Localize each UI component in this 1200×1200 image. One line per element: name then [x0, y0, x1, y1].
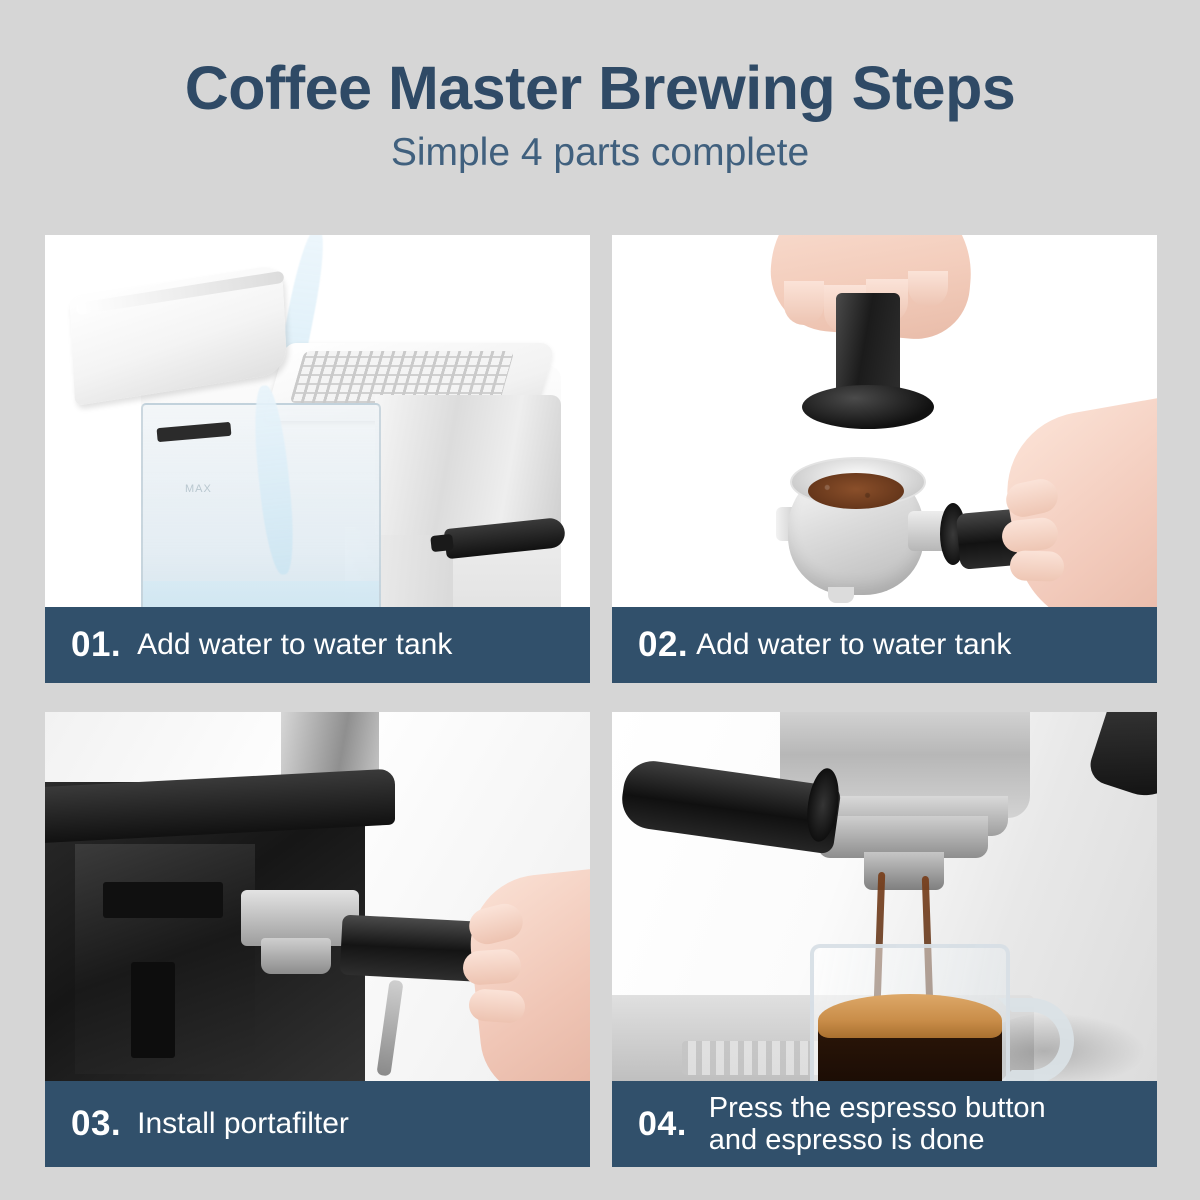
- step-card-02[interactable]: 02. Add water to water tank: [612, 235, 1157, 683]
- page-subtitle: Simple 4 parts complete: [0, 121, 1200, 175]
- step-card-04[interactable]: 04. Press the espresso button and espres…: [612, 712, 1157, 1167]
- espresso-crema: [818, 994, 1002, 1038]
- step-image-02: [612, 235, 1157, 607]
- finger: [784, 281, 824, 325]
- machine-side-panel: [375, 395, 561, 535]
- tank-max-mark: MAX: [185, 483, 212, 495]
- page-title: Coffee Master Brewing Steps: [0, 0, 1200, 121]
- step-number-02: 02.: [638, 625, 688, 665]
- finger: [462, 948, 522, 986]
- step-number-01: 01.: [71, 625, 121, 665]
- coffee-grounds: [808, 473, 904, 509]
- step-number-03: 03.: [71, 1104, 121, 1144]
- step-card-03[interactable]: 03. Install portafilter: [45, 712, 590, 1167]
- step-card-01[interactable]: MAX 01. Add water to water tank: [45, 235, 590, 683]
- step-caption-01: 01. Add water to water tank: [45, 607, 590, 683]
- step-text-01: Add water to water tank: [137, 628, 452, 662]
- step-image-04: [612, 712, 1157, 1081]
- portafilter-foot: [828, 587, 854, 603]
- step-text-03: Install portafilter: [137, 1107, 349, 1141]
- step-caption-03: 03. Install portafilter: [45, 1081, 590, 1167]
- finger: [468, 988, 526, 1024]
- step-image-03: [45, 712, 590, 1081]
- infographic-page: Coffee Master Brewing Steps Simple 4 par…: [0, 0, 1200, 1200]
- portafilter-spout-block: [864, 852, 944, 890]
- step-text-02: Add water to water tank: [696, 628, 1011, 662]
- machine-slot-upper: [103, 882, 223, 918]
- step-caption-02: 02. Add water to water tank: [612, 607, 1157, 683]
- steps-grid: MAX 01. Add water to water tank: [45, 235, 1157, 1167]
- machine-slot-lower: [131, 962, 175, 1058]
- step-caption-04: 04. Press the espresso button and espres…: [612, 1081, 1157, 1167]
- header: Coffee Master Brewing Steps Simple 4 par…: [0, 0, 1200, 210]
- step-image-01: MAX: [45, 235, 590, 607]
- tamper-base: [802, 385, 934, 429]
- group-head-lower: [261, 938, 331, 974]
- step-number-04: 04.: [638, 1105, 687, 1144]
- step-text-04: Press the espresso button and espresso i…: [709, 1092, 1046, 1157]
- step-text-04-line2: and espresso is done: [709, 1124, 985, 1156]
- finger: [1009, 550, 1064, 582]
- step-text-04-line1: Press the espresso button: [709, 1092, 1046, 1124]
- steam-wand-neck: [430, 534, 454, 552]
- water-bubbles: [143, 581, 379, 607]
